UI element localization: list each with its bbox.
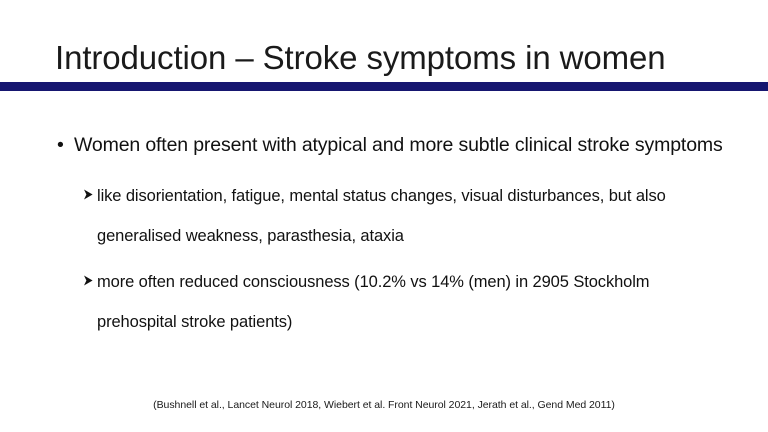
bullet-item-level2: like disorientation, fatigue, mental sta… bbox=[0, 176, 768, 256]
title-divider-bar bbox=[0, 82, 768, 91]
bullet-item-level1: • Women often present with atypical and … bbox=[0, 124, 768, 166]
bullet-text: more often reduced consciousness (10.2% … bbox=[97, 273, 649, 331]
arrowhead-icon bbox=[83, 176, 94, 200]
bullet-dot-icon: • bbox=[57, 124, 64, 166]
slide-body: • Women often present with atypical and … bbox=[0, 124, 768, 348]
page-title: Introduction – Stroke symptoms in women bbox=[55, 38, 735, 78]
bullet-text: like disorientation, fatigue, mental sta… bbox=[97, 187, 666, 245]
slide: Introduction – Stroke symptoms in women … bbox=[0, 0, 768, 432]
arrowhead-icon bbox=[83, 262, 94, 286]
citation-references: (Bushnell et al., Lancet Neurol 2018, Wi… bbox=[0, 398, 768, 412]
bullet-item-level2: more often reduced consciousness (10.2% … bbox=[0, 262, 768, 342]
bullet-text: Women often present with atypical and mo… bbox=[74, 134, 723, 156]
